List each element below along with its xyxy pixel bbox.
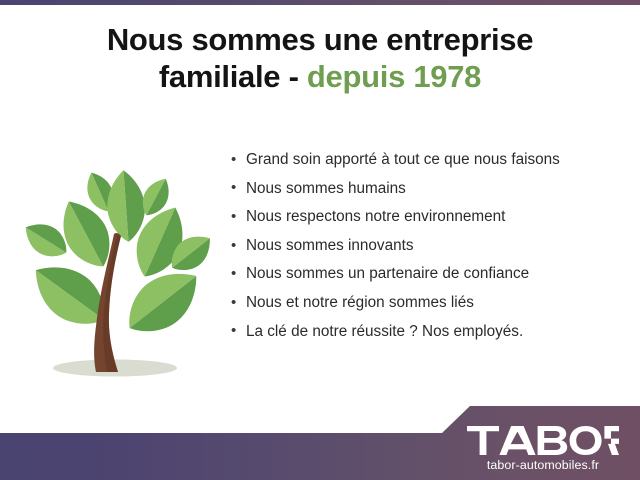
list-item-label: Nous et notre région sommes liés [246, 294, 474, 311]
headline-line-2-dark-text: familiale - [159, 59, 307, 94]
leaf-top-center [105, 169, 147, 243]
list-item: • Nous sommes un partenaire de confiance [228, 264, 628, 283]
headline-line-1: Nous sommes une entreprise [0, 22, 640, 59]
list-item-label: Nous sommes innovants [246, 237, 414, 254]
headline-line-1-text: Nous sommes une entreprise [107, 22, 533, 57]
bullet-marker-icon: • [231, 237, 236, 256]
benefits-list: • Grand soin apporté à tout ce que nous … [228, 150, 628, 350]
brand-logo[interactable]: tabor-automobiles.fr [458, 426, 628, 472]
list-item: • La clé de notre réussite ? Nos employé… [228, 322, 628, 341]
list-item: • Nous respectons notre environnement [228, 207, 628, 226]
list-item: • Nous et notre région sommes liés [228, 293, 628, 312]
list-item-label: Nous respectons notre environnement [246, 208, 505, 225]
bullet-marker-icon: • [231, 151, 236, 170]
logo-wordmark [458, 426, 628, 456]
headline-line-2-green-text: depuis 1978 [307, 59, 481, 94]
bullet-marker-icon: • [231, 179, 236, 198]
bullet-marker-icon: • [231, 322, 236, 341]
list-item: • Grand soin apporté à tout ce que nous … [228, 150, 628, 169]
leaf-lower-right [115, 257, 211, 347]
slide-canvas: Nous sommes une entreprise familiale - d… [0, 0, 640, 480]
logo-tagline: tabor-automobiles.fr [458, 458, 628, 472]
list-item-label: La clé de notre réussite ? Nos employés. [246, 323, 523, 340]
tree-illustration [8, 150, 218, 390]
list-item-label: Grand soin apporté à tout ce que nous fa… [246, 151, 560, 168]
page-title: Nous sommes une entreprise familiale - d… [0, 22, 640, 95]
list-item-label: Nous sommes un partenaire de confiance [246, 265, 529, 282]
list-item-label: Nous sommes humains [246, 180, 406, 197]
list-item: • Nous sommes humains [228, 179, 628, 198]
bullet-marker-icon: • [231, 208, 236, 227]
top-accent-strip [0, 0, 640, 5]
bullet-marker-icon: • [231, 294, 236, 313]
list-item: • Nous sommes innovants [228, 236, 628, 255]
bullet-marker-icon: • [231, 265, 236, 284]
headline-line-2: familiale - depuis 1978 [0, 59, 640, 96]
